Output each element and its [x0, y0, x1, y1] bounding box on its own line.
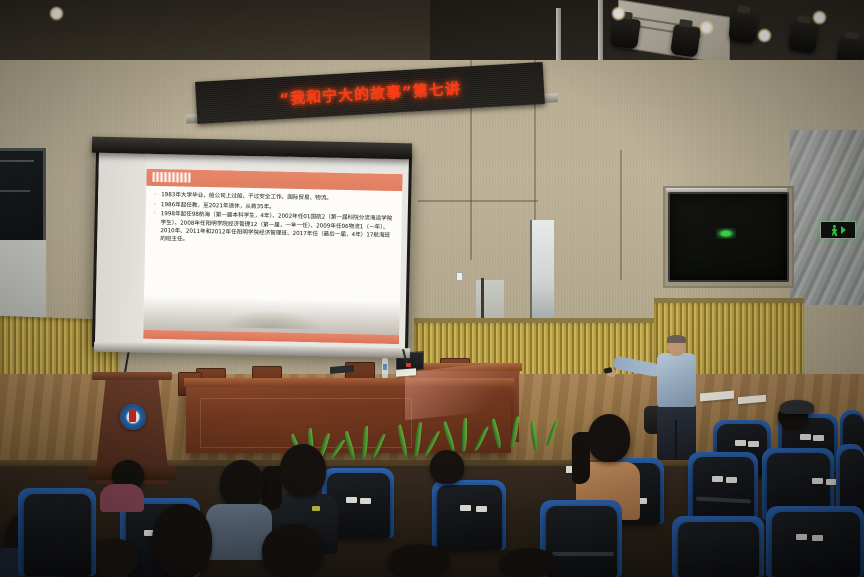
- arrow-right-icon: [841, 226, 846, 234]
- wall-seam: [418, 200, 538, 202]
- slide-body: 1983年大学毕业，船公司上过船、干过安全工作、国际贸易、物流。 1986年起任…: [153, 191, 396, 250]
- screen-surface: 1983年大学毕业，船公司上过船、干过安全工作、国际贸易、物流。 1986年起任…: [95, 150, 409, 350]
- audience-head: [430, 450, 464, 484]
- audience-head: [500, 548, 558, 577]
- audience-hair: [262, 466, 282, 510]
- seat-number-tag: [748, 441, 759, 447]
- audience-head: [152, 504, 212, 577]
- seat-number-tag: [360, 498, 371, 504]
- spotlight-glow: [757, 28, 772, 43]
- jacket-badge: [312, 506, 320, 511]
- stage-spotlight: [610, 16, 641, 49]
- audience-hair: [572, 432, 590, 484]
- wainscot-cap: [414, 318, 654, 323]
- auditorium-seat-back[interactable]: [437, 485, 502, 550]
- seat-number-tag: [476, 506, 487, 512]
- audience-head: [280, 444, 326, 496]
- speaker-shirt: [657, 353, 696, 407]
- spotlight-glow: [49, 6, 64, 21]
- running-man-icon: [831, 225, 839, 235]
- stage-spotlight: [728, 10, 759, 43]
- university-crest-icon: [120, 404, 146, 430]
- left-wall-window: [0, 148, 46, 246]
- seat-crossbar: [552, 552, 614, 556]
- spotlight-glow: [812, 10, 827, 25]
- speaker-hair: [667, 335, 686, 343]
- exit-sign-right: [820, 221, 856, 239]
- seat-number-tag: [796, 534, 807, 540]
- light-switch[interactable]: [456, 272, 463, 281]
- university-logo-icon: [152, 172, 190, 183]
- screen-cord-handle[interactable]: [406, 363, 411, 367]
- presentation-slide: 1983年大学毕业，船公司上过船、干过安全工作、国际贸易、物流。 1986年起任…: [143, 169, 403, 344]
- seat-number-tag: [813, 435, 824, 441]
- audience-cap: [780, 400, 814, 414]
- auditorium-seat-back[interactable]: [24, 494, 91, 576]
- led-banner-text: “我和宁大的故事”第七讲: [279, 77, 462, 108]
- audience-head: [388, 544, 450, 577]
- stone-wall-panel: [790, 130, 864, 305]
- wall-seam: [620, 150, 622, 280]
- seat-number-tag: [460, 505, 471, 511]
- seat-number-tag: [712, 476, 723, 482]
- window-reflection: [0, 160, 34, 162]
- podium-top: [92, 372, 172, 380]
- audience-torso: [100, 484, 144, 512]
- screen-blank-margin: [95, 150, 147, 345]
- auditorium-seat-back[interactable]: [693, 457, 754, 520]
- monitor-power-indicator: [716, 228, 736, 239]
- projection-screen: 1983年大学毕业，船公司上过船、干过安全工作、国际贸易、物流。 1986年起任…: [92, 147, 412, 354]
- seat-number-tag: [812, 535, 823, 541]
- seat-number-tag: [735, 440, 746, 446]
- stage-spotlight: [788, 20, 819, 53]
- seat-number-tag: [812, 478, 823, 484]
- wainscot-cap: [654, 298, 804, 303]
- seat-number-tag: [726, 477, 737, 483]
- slide-header-bar: [146, 169, 402, 191]
- audience-head: [220, 460, 264, 508]
- document-paper: [396, 368, 416, 376]
- seat-number-tag: [346, 497, 357, 503]
- audience-head: [262, 524, 324, 577]
- slide-campus-watermark: [143, 296, 400, 335]
- lecture-hall-photo: “我和宁大的故事”第七讲 1983年大学毕业，船公司上过船、干过安全工作、国际贸…: [0, 0, 864, 577]
- auditorium-seat-back[interactable]: [772, 512, 860, 577]
- water-bottle[interactable]: [382, 358, 388, 378]
- slide-bullet: 1998年起任98航海（第一届本科学生，4年）、2002年任01国航2（第一届科…: [160, 210, 396, 248]
- spotlight-glow: [699, 20, 714, 35]
- auditorium-seat-back[interactable]: [678, 522, 759, 577]
- window-reflection: [0, 190, 30, 192]
- stage-spotlight: [670, 24, 701, 57]
- spotlight-glow: [611, 6, 626, 21]
- audience-head: [588, 414, 630, 462]
- speaker-leg-split: [675, 420, 677, 460]
- seat-number-tag: [800, 434, 811, 440]
